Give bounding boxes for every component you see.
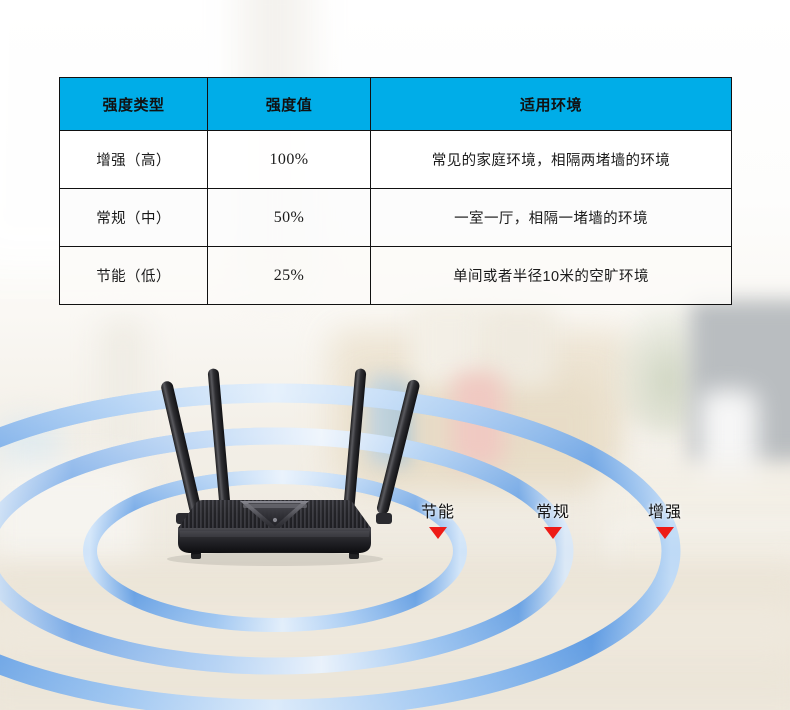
router-body [167, 500, 383, 566]
range-marker-enhanced: 增强 [633, 503, 697, 539]
range-marker-eco-label: 节能 [406, 503, 470, 523]
range-marker-eco: 节能 [406, 503, 470, 539]
cell-type: 常规（中） [60, 189, 208, 247]
down-triangle-marker-icon [544, 527, 562, 539]
cell-value: 25% [208, 247, 371, 305]
cell-value: 100% [208, 131, 371, 189]
down-triangle-marker-icon [429, 527, 447, 539]
table-row: 常规（中） 50% 一室一厅，相隔一堵墙的环境 [60, 189, 732, 247]
cell-type: 增强（高） [60, 131, 208, 189]
column-header-environment: 适用环境 [371, 78, 732, 131]
screenshot-canvas: 强度类型 强度值 适用环境 增强（高） 100% 常见的家庭环境，相隔两堵墙的环… [0, 0, 790, 710]
cell-value: 50% [208, 189, 371, 247]
table-row: 节能（低） 25% 单间或者半径10米的空旷环境 [60, 247, 732, 305]
column-header-type: 强度类型 [60, 78, 208, 131]
cell-environment: 一室一厅，相隔一堵墙的环境 [371, 189, 732, 247]
column-header-value: 强度值 [208, 78, 371, 131]
table-row: 增强（高） 100% 常见的家庭环境，相隔两堵墙的环境 [60, 131, 732, 189]
down-triangle-marker-icon [656, 527, 674, 539]
cell-type: 节能（低） [60, 247, 208, 305]
router-antennas [160, 368, 421, 515]
cell-environment: 单间或者半径10米的空旷环境 [371, 247, 732, 305]
range-marker-enhanced-label: 增强 [633, 503, 697, 523]
cell-environment: 常见的家庭环境，相隔两堵墙的环境 [371, 131, 732, 189]
table-header-row: 强度类型 强度值 适用环境 [60, 78, 732, 131]
range-marker-standard: 常规 [521, 503, 585, 539]
signal-strength-table: 强度类型 强度值 适用环境 增强（高） 100% 常见的家庭环境，相隔两堵墙的环… [59, 77, 731, 305]
range-marker-standard-label: 常规 [521, 503, 585, 523]
